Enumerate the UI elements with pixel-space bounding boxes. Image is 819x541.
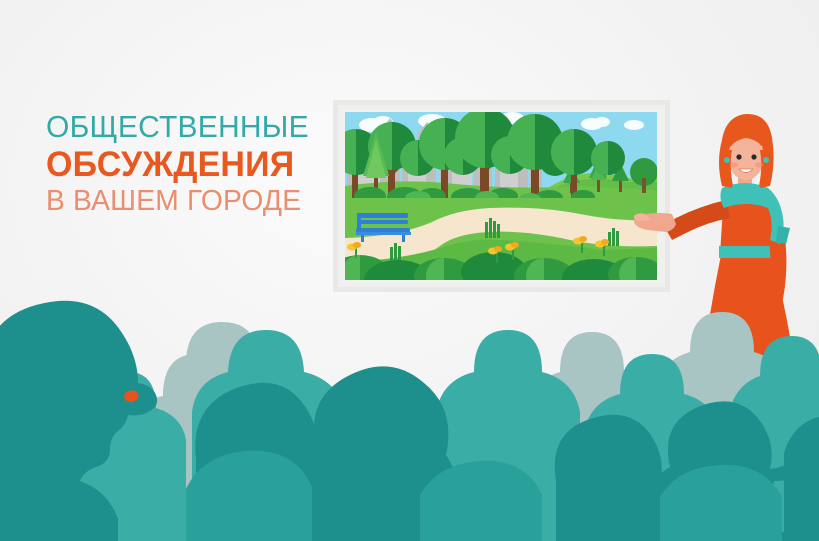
poster-canvas: ОБЩЕСТВЕННЫЕ ОБСУЖДЕНИЯ В ВАШЕМ ГОРОДЕ xyxy=(0,0,819,541)
headline-line-3: В ВАШЕМ ГОРОДЕ xyxy=(46,187,343,216)
poster-headline: ОБЩЕСТВЕННЫЕ ОБСУЖДЕНИЯ В ВАШЕМ ГОРОДЕ xyxy=(46,112,346,215)
audience-silhouettes xyxy=(0,0,819,541)
headline-line-2: ОБСУЖДЕНИЯ xyxy=(46,147,337,182)
headline-line-1: ОБЩЕСТВЕННЫЕ xyxy=(46,112,342,143)
